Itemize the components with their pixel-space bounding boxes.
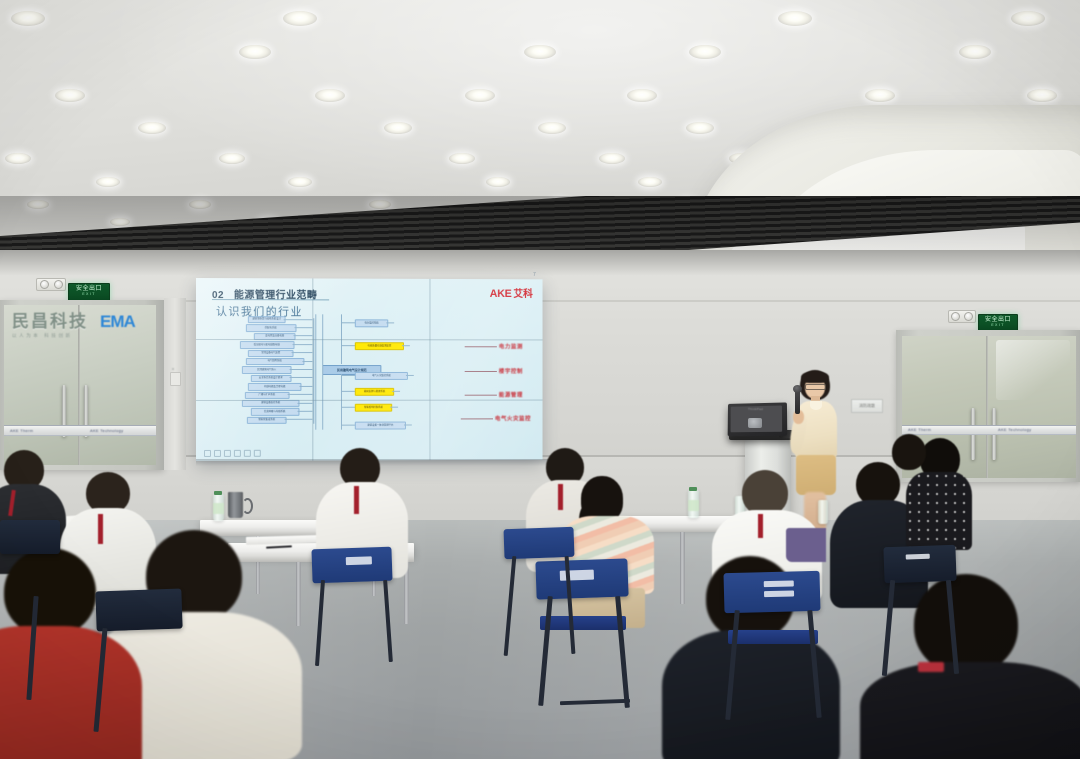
attendee-head: [892, 434, 926, 470]
downlight: [627, 89, 657, 102]
exit-sign-english: EXIT: [82, 292, 96, 297]
wall-placard-label: 消防疏散: [859, 403, 875, 409]
attendee-body: [860, 662, 1080, 759]
door-band-label-right-b: AKE Technology: [998, 427, 1031, 432]
chair[interactable]: [535, 558, 628, 599]
door-vision-band-right: AKE Therm AKE Technology: [902, 425, 1076, 435]
downlight: [865, 89, 895, 102]
chair[interactable]: [0, 520, 60, 554]
water-bottle: [213, 494, 224, 521]
bottle-cap: [689, 487, 697, 491]
mug-handle: [242, 498, 253, 514]
door-band-label-right-a: AKE Therm: [908, 427, 931, 432]
chair[interactable]: [723, 571, 820, 613]
chair-seat: [728, 630, 818, 644]
chair-label: [764, 580, 794, 587]
chair-label: [764, 590, 794, 597]
downlight: [959, 45, 991, 59]
downlight: [1011, 11, 1045, 26]
presenter-glasses: [805, 384, 826, 390]
downlight: [638, 177, 662, 187]
chair[interactable]: [503, 527, 574, 559]
shirt-accent-panel: [786, 528, 826, 562]
presentation-slide: 02 能源管理行业范畴 认识我们的行业 AKE 艾科 建筑物防雷与接地系统设计供…: [196, 278, 543, 461]
water-bottle: [688, 490, 699, 518]
room-photo-scene: 安全出口 EXIT 民昌科技 以人为本 科技创新 EMA AKE Therm A…: [0, 0, 1080, 759]
downlight: [283, 11, 317, 26]
water-bottle: [818, 500, 828, 524]
downlight: [465, 89, 495, 102]
door-band-label-b: AKE Technology: [90, 428, 123, 433]
chair[interactable]: [883, 545, 956, 583]
chair-label: [906, 554, 930, 560]
downlight: [486, 177, 510, 187]
slide-glare: [196, 278, 543, 461]
door-band-label-a: AKE Therm: [10, 428, 33, 433]
emergency-light-left: [36, 278, 66, 291]
downlight: [138, 122, 166, 134]
presenter-fringe: [801, 371, 829, 383]
lanyard: [918, 662, 944, 672]
presenter-collar: [810, 401, 822, 410]
downlight: [384, 122, 412, 134]
downlight: [599, 153, 625, 164]
attendee-body-dotted: [906, 472, 972, 550]
lanyard: [758, 514, 763, 538]
downlight: [96, 177, 120, 187]
downlight: [219, 153, 245, 164]
wall-switch-plate-left[interactable]: [170, 372, 181, 386]
bottle-label: [213, 503, 224, 514]
slide-page-number: 7: [533, 272, 1072, 278]
video-wall-display[interactable]: 02 能源管理行业范畴 认识我们的行业 AKE 艾科 建筑物防雷与接地系统设计供…: [196, 278, 543, 461]
exit-sign-left: 安全出口 EXIT: [68, 283, 110, 301]
downlight: [239, 45, 271, 59]
exit-sign-english-right: EXIT: [991, 323, 1005, 328]
downlight: [11, 11, 45, 26]
downlight: [686, 122, 714, 134]
presenter-skirt: [796, 455, 836, 495]
door-reflection-right: [996, 340, 1070, 400]
chair-seat: [540, 616, 626, 630]
microphone-head: [793, 385, 802, 393]
lanyard: [558, 484, 563, 510]
door-vision-band-left: AKE Therm AKE Technology: [4, 425, 156, 436]
wall-placard-left: [172, 368, 174, 370]
thermos-mug: [228, 492, 243, 518]
bottle-cap: [214, 491, 222, 495]
downlight: [449, 153, 475, 164]
emergency-light-right: [948, 310, 976, 323]
chair[interactable]: [95, 589, 182, 632]
attendee-body: [0, 626, 142, 759]
downlight: [538, 122, 566, 134]
attendee-head: [914, 574, 1018, 674]
door-logo-accent-left: EMA: [100, 312, 135, 332]
bottle-label: [688, 500, 699, 511]
laptop-sticker: [748, 418, 762, 428]
downlight: [689, 45, 721, 59]
table-leg: [296, 562, 301, 626]
attendee-head: [4, 548, 96, 636]
door-mullion-right: [986, 336, 988, 478]
downlight: [1027, 89, 1057, 102]
chair-label: [346, 556, 372, 565]
downlight: [55, 89, 85, 102]
laptop-brand-mark: ThinkPad: [748, 407, 763, 411]
downlight: [5, 153, 31, 164]
exit-sign-right: 安全出口 EXIT: [978, 314, 1018, 331]
chair[interactable]: [311, 547, 392, 584]
table-leg: [680, 532, 685, 604]
downlight: [315, 89, 345, 102]
downlight: [288, 177, 312, 187]
door-logo-subtitle: 以人为本 科技创新: [12, 333, 142, 339]
wall-placard-right: 消防疏散: [851, 399, 883, 413]
downlight: [778, 11, 812, 26]
downlight: [524, 45, 556, 59]
lanyard: [354, 486, 359, 514]
lanyard: [98, 514, 103, 544]
